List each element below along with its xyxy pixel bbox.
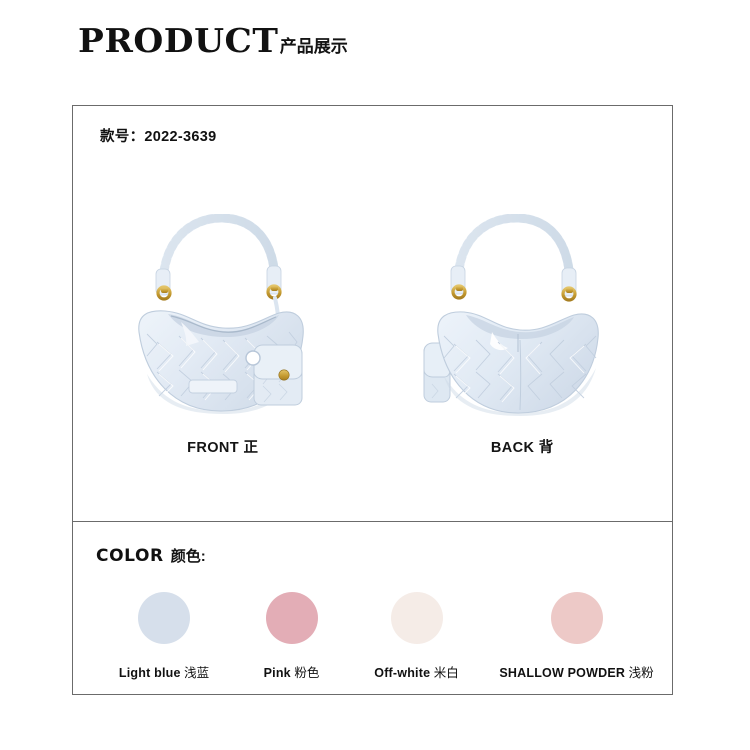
- swatch-label: Pink 粉色: [264, 662, 320, 681]
- page-header: PRODUCT 产品展示: [78, 24, 348, 57]
- handbag-front-image: [123, 214, 323, 426]
- color-swatch-off-white[interactable]: Off-white 米白: [344, 592, 489, 681]
- color-swatch-pink[interactable]: Pink 粉色: [239, 592, 344, 681]
- swatch-dot[interactable]: [138, 592, 190, 644]
- page-title-cn: 产品展示: [280, 38, 348, 57]
- front-view-caption: FRONT 正: [187, 436, 258, 457]
- swatch-label-cn: 米白: [434, 666, 459, 680]
- back-view[interactable]: BACK 背: [373, 214, 673, 457]
- product-section: 款号：2022-3639: [73, 106, 672, 522]
- swatch-label-en: Light blue: [119, 666, 181, 680]
- color-section: COLOR 颜色: Light blue 浅蓝 Pink 粉色: [73, 522, 672, 694]
- swatch-dot[interactable]: [391, 592, 443, 644]
- model-number: 款号：2022-3639: [100, 125, 216, 146]
- swatch-dot[interactable]: [551, 592, 603, 644]
- swatch-label-en: SHALLOW POWDER: [499, 666, 625, 680]
- handbag-back-image: [422, 214, 622, 426]
- color-swatch-light-blue[interactable]: Light blue 浅蓝: [89, 592, 239, 681]
- swatch-label: Off-white 米白: [374, 662, 458, 681]
- product-frame: 款号：2022-3639: [72, 105, 673, 695]
- swatch-label-cn: 浅蓝: [184, 666, 209, 680]
- front-view[interactable]: FRONT 正: [73, 214, 373, 457]
- color-swatch-row: Light blue 浅蓝 Pink 粉色 Off-white 米白: [89, 592, 664, 681]
- swatch-dot[interactable]: [266, 592, 318, 644]
- color-header-cn: 颜色:: [171, 545, 206, 566]
- swatch-label-cn: 浅粉: [629, 666, 654, 680]
- swatch-label: SHALLOW POWDER 浅粉: [499, 662, 653, 681]
- swatch-label-cn: 粉色: [294, 666, 319, 680]
- product-views: FRONT 正: [73, 214, 672, 457]
- color-section-header: COLOR 颜色:: [96, 545, 206, 566]
- color-swatch-shallow-powder[interactable]: SHALLOW POWDER 浅粉: [489, 592, 664, 681]
- color-header-en: COLOR: [96, 546, 164, 566]
- swatch-label: Light blue 浅蓝: [119, 662, 209, 681]
- swatch-label-en: Off-white: [374, 666, 430, 680]
- swatch-label-en: Pink: [264, 666, 291, 680]
- back-view-caption: BACK 背: [491, 436, 554, 457]
- page-title-en: PRODUCT: [78, 24, 278, 57]
